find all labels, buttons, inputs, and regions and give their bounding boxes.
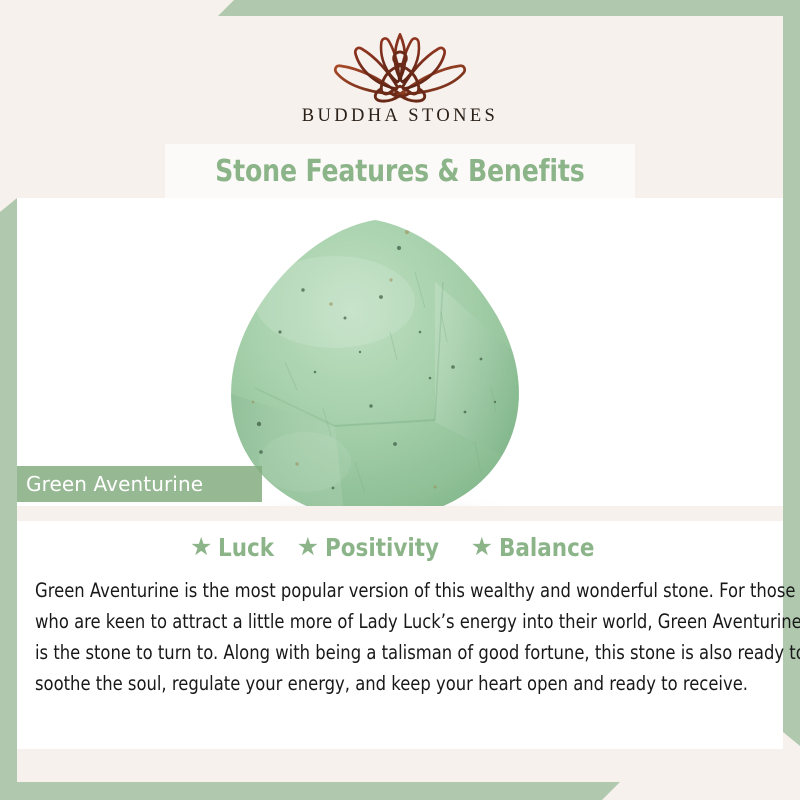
description-paragraph: Green Aventurine is the most popular ver…	[35, 575, 800, 699]
decor-band-bottom-left	[0, 782, 620, 800]
content-panel: BUDDHA STONES Stone Features & Benefits	[17, 16, 783, 782]
stone-name-label: Green Aventurine	[17, 472, 203, 496]
decor-band-top-right	[218, 0, 800, 16]
brand-name: BUDDHA STONES	[302, 106, 499, 127]
lotus-meditation-icon	[315, 22, 485, 108]
page-title: Stone Features & Benefits	[215, 154, 584, 189]
benefits-content: ★ Luck ★ Positivity ★ Balance Green Aven…	[17, 521, 783, 749]
keyword-item-luck: ★ Luck	[190, 533, 284, 562]
keyword-label: Positivity	[325, 533, 439, 562]
keyword-list: ★ Luck ★ Positivity ★ Balance	[17, 533, 783, 562]
stone-name-band: Green Aventurine	[17, 466, 262, 502]
star-icon: ★	[471, 535, 493, 560]
keyword-label: Balance	[499, 533, 594, 562]
star-icon: ★	[190, 535, 212, 560]
stone-photo: Green Aventurine	[17, 198, 783, 506]
decor-band-left	[0, 198, 17, 800]
bottom-spacer	[17, 749, 783, 782]
title-banner: Stone Features & Benefits	[165, 144, 635, 198]
divider-strip	[17, 506, 783, 521]
green-aventurine-stone-image	[185, 212, 565, 506]
brand-header: BUDDHA STONES	[17, 16, 783, 144]
keyword-label: Luck	[218, 533, 274, 562]
keyword-item-balance: ★ Balance	[471, 533, 610, 562]
star-icon: ★	[297, 535, 319, 560]
keyword-item-positivity: ★ Positivity	[297, 533, 458, 562]
